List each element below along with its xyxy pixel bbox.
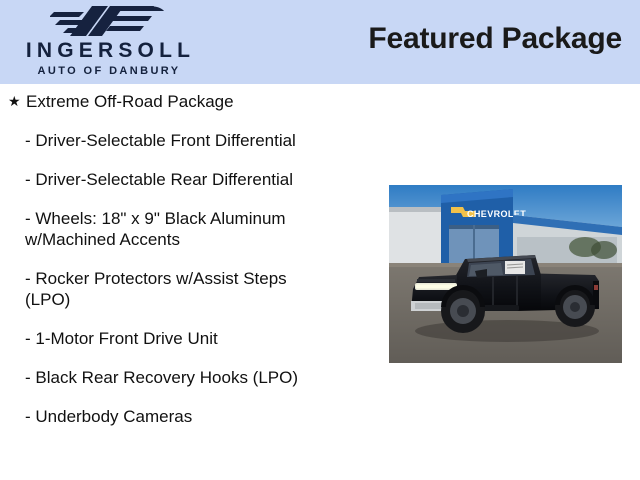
list-item: - Wheels: 18" x 9" Black Aluminum w/Mach… bbox=[25, 208, 335, 250]
ingersoll-wing-emblem-icon bbox=[50, 4, 170, 38]
page-title: Featured Package bbox=[368, 22, 622, 56]
feature-list: ★ Extreme Off-Road Package - Driver-Sele… bbox=[0, 90, 370, 445]
list-item: - Rocker Protectors w/Assist Steps (LPO) bbox=[25, 268, 335, 310]
list-item: - Underbody Cameras bbox=[25, 406, 335, 427]
list-item: - Black Rear Recovery Hooks (LPO) bbox=[25, 367, 335, 388]
brand-name: INGERSOLL bbox=[8, 40, 208, 62]
list-item: - Driver-Selectable Rear Differential bbox=[25, 169, 335, 190]
list-item-headline: ★ Extreme Off-Road Package bbox=[8, 90, 370, 113]
vehicle-photo: CHEVROLET bbox=[389, 185, 622, 363]
list-item: - 1-Motor Front Drive Unit bbox=[25, 328, 335, 349]
star-bullet-icon: ★ bbox=[8, 90, 26, 113]
list-item: - Driver-Selectable Front Differential bbox=[25, 130, 335, 151]
headline-label: Extreme Off-Road Package bbox=[26, 90, 234, 113]
brand-tagline: AUTO OF DANBURY bbox=[8, 65, 208, 77]
page-header: INGERSOLL AUTO OF DANBURY Featured Packa… bbox=[0, 0, 640, 84]
brand-logo: INGERSOLL AUTO OF DANBURY bbox=[8, 2, 208, 82]
